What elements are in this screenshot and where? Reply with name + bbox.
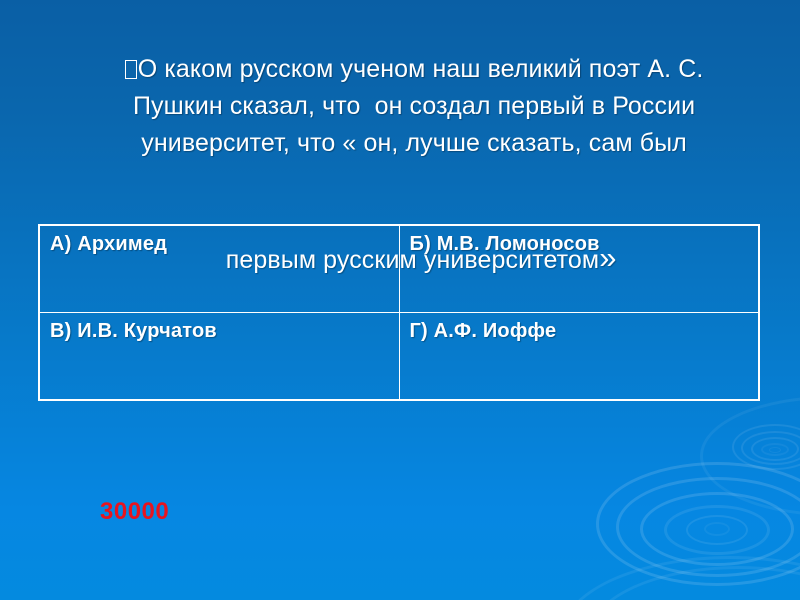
- question-line-3: университет, что « он, лучше сказать, са…: [141, 129, 687, 157]
- answer-option-a[interactable]: А) Архимед: [40, 226, 399, 313]
- answer-option-v[interactable]: В) И.В. Курчатов: [40, 313, 399, 400]
- ripple-ring-small: [732, 424, 800, 470]
- question-line-2: Пушкин сказал, что он создал первый в Ро…: [133, 92, 695, 120]
- bullet-placeholder-icon: [125, 60, 137, 79]
- ripple-ring-small: [761, 443, 789, 456]
- table-row: А) Архимед Б) М.В. Ломоносов: [40, 226, 758, 313]
- quiz-slide: О каком русском ученом наш великий поэт …: [0, 0, 800, 600]
- answer-option-b[interactable]: Б) М.В. Ломоносов: [399, 226, 758, 313]
- ripple-ring: [664, 505, 770, 555]
- ripple-arc: [588, 566, 800, 600]
- answer-options-table: А) Архимед Б) М.В. Ломоносов В) И.В. Кур…: [38, 224, 760, 401]
- ripple-ring-small: [751, 437, 799, 461]
- ripple-ring: [686, 515, 748, 545]
- question-line-1: О каком русском ученом наш великий поэт …: [138, 55, 704, 83]
- ripple-ring: [640, 492, 794, 566]
- ripple-ring-small: [769, 447, 781, 453]
- ripple-ring-small: [741, 431, 800, 465]
- table-row: В) И.В. Курчатов Г) А.Ф. Иоффе: [40, 313, 758, 400]
- answer-option-g[interactable]: Г) А.Ф. Иоффе: [399, 313, 758, 400]
- ripple-ring: [704, 522, 730, 536]
- ripple-ring: [596, 462, 800, 586]
- ripple-arc: [700, 396, 800, 516]
- ripple-arc: [560, 556, 800, 600]
- score-value: 30000: [100, 498, 169, 526]
- ripple-ring: [616, 477, 800, 577]
